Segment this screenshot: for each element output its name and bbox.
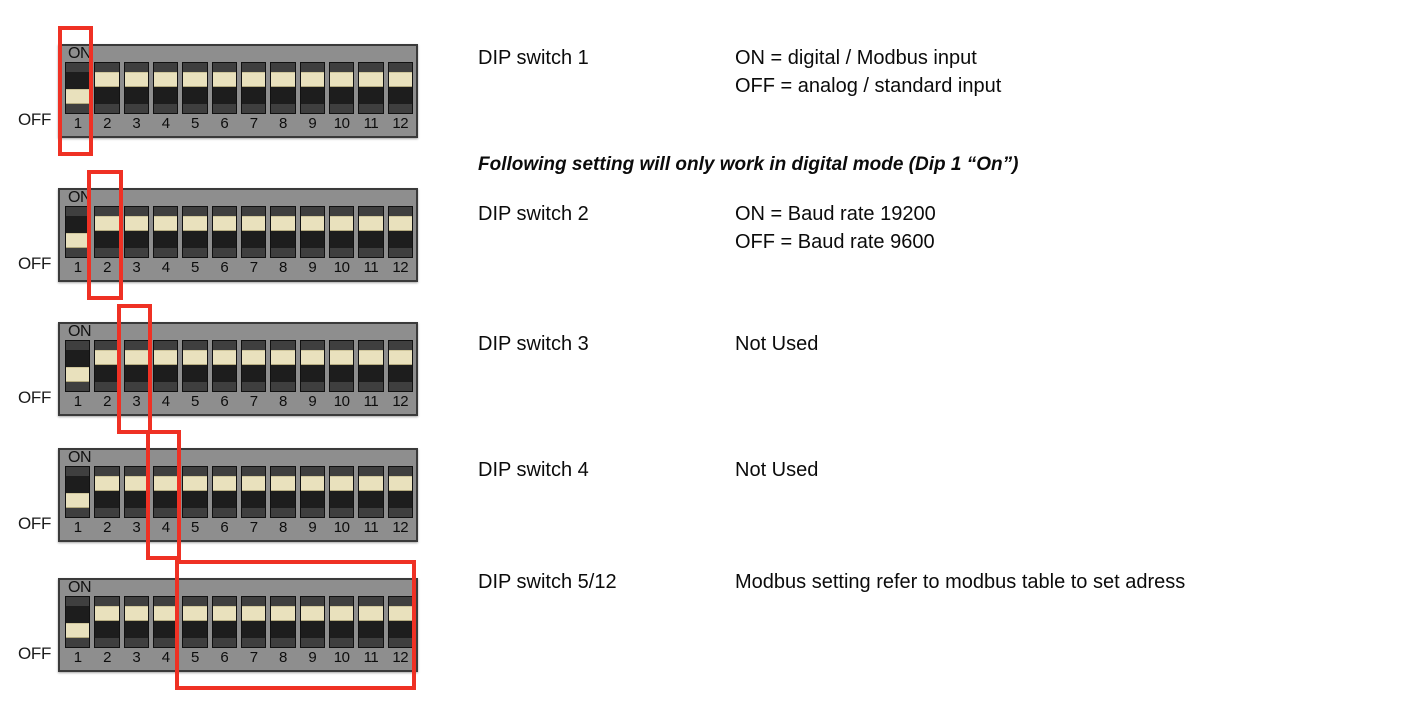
switch-cap-bottom (213, 508, 236, 517)
switch-cap-top (154, 207, 177, 216)
switch-slider[interactable] (271, 350, 294, 365)
row-value-dip-switch-2-2: OFF = Baud rate 9600 (735, 228, 935, 256)
switch-track (359, 606, 382, 638)
switch-number-6: 6 (212, 114, 237, 136)
dip-switch-6-on[interactable] (212, 62, 237, 114)
switch-slider[interactable] (242, 350, 265, 365)
switch-slider[interactable] (66, 493, 89, 508)
switch-number-6: 6 (212, 648, 237, 670)
dip-switch-9-on[interactable] (300, 596, 325, 648)
switch-cap-top (389, 341, 412, 350)
switch-track (125, 606, 148, 638)
switch-cap-top (389, 207, 412, 216)
switch-cap-top (154, 467, 177, 476)
switch-number-3: 3 (124, 114, 149, 136)
dip-switch-5-on[interactable] (182, 596, 207, 648)
switch-slider[interactable] (301, 350, 324, 365)
switch-track (242, 606, 265, 638)
switch-cap-top (154, 63, 177, 72)
dip-switch-10-on[interactable] (329, 340, 354, 392)
dip-switch-1-off[interactable] (65, 596, 90, 648)
switch-slider[interactable] (183, 216, 206, 231)
switch-cap-bottom (213, 248, 236, 257)
switch-slider[interactable] (183, 72, 206, 87)
switch-number-3: 3 (124, 392, 149, 414)
dip-switch-1-off[interactable] (65, 340, 90, 392)
switch-slider[interactable] (359, 476, 382, 491)
dip-switch-9-on[interactable] (300, 466, 325, 518)
switch-number-2: 2 (94, 648, 119, 670)
dip-switch-12-on[interactable] (388, 466, 413, 518)
dip-switch-3-on[interactable] (124, 340, 149, 392)
switch-cap-top (242, 63, 265, 72)
dip-switch-12-on[interactable] (388, 596, 413, 648)
dip-switch-8-on[interactable] (270, 62, 295, 114)
switch-cap-bottom (359, 382, 382, 391)
switch-track (301, 350, 324, 382)
switch-strip (65, 206, 413, 258)
dip-switch-8-on[interactable] (270, 596, 295, 648)
dip-switch-3-on[interactable] (124, 62, 149, 114)
switch-slider[interactable] (359, 606, 382, 621)
switch-number-3: 3 (124, 518, 149, 540)
switch-slider[interactable] (330, 350, 353, 365)
switch-cap-top (213, 207, 236, 216)
switch-cap-bottom (359, 104, 382, 113)
switch-slider[interactable] (154, 350, 177, 365)
switch-cap-bottom (242, 638, 265, 647)
switch-cap-top (213, 63, 236, 72)
switch-slider[interactable] (271, 72, 294, 87)
switch-strip (65, 340, 413, 392)
switch-slider[interactable] (389, 476, 412, 491)
switch-track (330, 476, 353, 508)
switch-number-12: 12 (388, 114, 413, 136)
switch-track (66, 476, 89, 508)
switch-number-row: 123456789101112 (65, 392, 413, 414)
on-label-2: ON (68, 190, 91, 206)
switch-track (66, 216, 89, 248)
switch-cap-top (330, 63, 353, 72)
dip-switch-5-on[interactable] (182, 466, 207, 518)
switch-slider[interactable] (242, 72, 265, 87)
dip-switch-1-off[interactable] (65, 466, 90, 518)
dip-switch-10-on[interactable] (329, 62, 354, 114)
switch-slider[interactable] (66, 89, 89, 104)
switch-slider[interactable] (66, 367, 89, 382)
switch-number-8: 8 (270, 258, 295, 280)
switch-cap-bottom (95, 382, 118, 391)
switch-number-1: 1 (65, 258, 90, 280)
switch-number-2: 2 (94, 114, 119, 136)
switch-cap-bottom (330, 104, 353, 113)
switch-strip (65, 596, 413, 648)
switch-track (271, 350, 294, 382)
dip-switch-11-on[interactable] (358, 340, 383, 392)
dip-switch-2-on[interactable] (94, 340, 119, 392)
dip-switch-10-on[interactable] (329, 466, 354, 518)
dip-switch-9-on[interactable] (300, 340, 325, 392)
switch-track (154, 476, 177, 508)
switch-track (359, 216, 382, 248)
switch-number-10: 10 (329, 258, 354, 280)
switch-track (213, 216, 236, 248)
switch-slider[interactable] (213, 72, 236, 87)
switch-cap-bottom (66, 382, 89, 391)
switch-track (301, 216, 324, 248)
switch-slider[interactable] (213, 216, 236, 231)
switch-slider[interactable] (95, 476, 118, 491)
switch-track (389, 72, 412, 104)
row-value-dip-switch-3-1: Not Used (735, 330, 818, 358)
switch-slider[interactable] (66, 623, 89, 638)
switch-slider[interactable] (213, 476, 236, 491)
switch-cap-top (330, 597, 353, 606)
dip-switch-6-on[interactable] (212, 206, 237, 258)
switch-cap-bottom (95, 104, 118, 113)
switch-track (301, 72, 324, 104)
switch-cap-bottom (154, 508, 177, 517)
row-label-dip-switch-5-12: DIP switch 5/12 (478, 568, 617, 596)
switch-cap-top (125, 63, 148, 72)
dip-switch-10-on[interactable] (329, 596, 354, 648)
dip-switch-7-on[interactable] (241, 206, 266, 258)
switch-cap-top (125, 467, 148, 476)
switch-cap-top (242, 207, 265, 216)
switch-slider[interactable] (183, 606, 206, 621)
dip-switch-12-on[interactable] (388, 340, 413, 392)
dip-switch-7-on[interactable] (241, 340, 266, 392)
switch-slider[interactable] (213, 606, 236, 621)
switch-slider[interactable] (154, 476, 177, 491)
dip-bank-dip-switch-3: ON123456789101112 (58, 322, 418, 416)
dip-switch-4-on[interactable] (153, 596, 178, 648)
dip-switch-5-on[interactable] (182, 206, 207, 258)
switch-cap-bottom (330, 382, 353, 391)
on-label-1: ON (68, 46, 91, 62)
switch-slider[interactable] (95, 606, 118, 621)
switch-cap-bottom (66, 104, 89, 113)
switch-number-6: 6 (212, 392, 237, 414)
switch-cap-bottom (330, 508, 353, 517)
dip-switch-4-on[interactable] (153, 466, 178, 518)
switch-number-8: 8 (270, 114, 295, 136)
switch-number-12: 12 (388, 648, 413, 670)
dip-switch-7-on[interactable] (241, 466, 266, 518)
switch-number-11: 11 (358, 518, 383, 540)
switch-cap-bottom (271, 382, 294, 391)
switch-slider[interactable] (389, 72, 412, 87)
switch-number-7: 7 (241, 392, 266, 414)
switch-number-11: 11 (358, 648, 383, 670)
switch-track (330, 350, 353, 382)
switch-cap-top (183, 597, 206, 606)
switch-cap-top (66, 207, 89, 216)
off-label-4: OFF (18, 514, 51, 534)
switch-number-10: 10 (329, 518, 354, 540)
switch-slider[interactable] (125, 216, 148, 231)
switch-track (330, 606, 353, 638)
switch-slider[interactable] (95, 72, 118, 87)
switch-slider[interactable] (125, 606, 148, 621)
switch-cap-bottom (213, 104, 236, 113)
switch-cap-bottom (125, 104, 148, 113)
switch-track (66, 606, 89, 638)
switch-slider[interactable] (125, 72, 148, 87)
row-label-dip-switch-4: DIP switch 4 (478, 456, 589, 484)
switch-track (213, 476, 236, 508)
switch-number-5: 5 (182, 258, 207, 280)
dip-switch-10-on[interactable] (329, 206, 354, 258)
dip-switch-11-on[interactable] (358, 596, 383, 648)
switch-slider[interactable] (330, 606, 353, 621)
switch-number-3: 3 (124, 648, 149, 670)
switch-cap-top (154, 341, 177, 350)
switch-slider[interactable] (95, 350, 118, 365)
switch-cap-top (213, 341, 236, 350)
switch-track (125, 350, 148, 382)
switch-slider[interactable] (95, 216, 118, 231)
dip-switch-2-on[interactable] (94, 596, 119, 648)
switch-number-9: 9 (300, 392, 325, 414)
switch-slider[interactable] (359, 216, 382, 231)
switch-number-4: 4 (153, 392, 178, 414)
switch-number-12: 12 (388, 518, 413, 540)
switch-slider[interactable] (359, 72, 382, 87)
switch-number-7: 7 (241, 648, 266, 670)
switch-number-4: 4 (153, 258, 178, 280)
switch-track (242, 72, 265, 104)
switch-number-4: 4 (153, 648, 178, 670)
dip-switch-12-on[interactable] (388, 206, 413, 258)
row-value-dip-switch-5-12-1: Modbus setting refer to modbus table to … (735, 568, 1185, 596)
dip-switch-5-on[interactable] (182, 340, 207, 392)
dip-switch-6-on[interactable] (212, 596, 237, 648)
switch-track (154, 72, 177, 104)
dip-switch-8-on[interactable] (270, 206, 295, 258)
switch-track (66, 350, 89, 382)
switch-cap-bottom (95, 508, 118, 517)
switch-number-7: 7 (241, 258, 266, 280)
switch-slider[interactable] (301, 606, 324, 621)
switch-track (183, 606, 206, 638)
switch-cap-bottom (125, 638, 148, 647)
dip-switch-8-on[interactable] (270, 340, 295, 392)
dip-switch-11-on[interactable] (358, 466, 383, 518)
switch-slider[interactable] (389, 216, 412, 231)
switch-cap-top (95, 597, 118, 606)
switch-slider[interactable] (271, 216, 294, 231)
switch-cap-top (242, 341, 265, 350)
switch-cap-bottom (125, 248, 148, 257)
switch-cap-bottom (271, 508, 294, 517)
switch-slider[interactable] (183, 350, 206, 365)
dip-switch-3-on[interactable] (124, 206, 149, 258)
switch-cap-bottom (271, 104, 294, 113)
switch-number-4: 4 (153, 114, 178, 136)
switch-cap-bottom (389, 104, 412, 113)
switch-track (66, 72, 89, 104)
switch-cap-bottom (183, 638, 206, 647)
switch-cap-bottom (242, 248, 265, 257)
switch-cap-top (154, 597, 177, 606)
switch-cap-bottom (154, 248, 177, 257)
switch-cap-top (271, 207, 294, 216)
switch-slider[interactable] (125, 350, 148, 365)
dip-switch-9-on[interactable] (300, 206, 325, 258)
dip-switch-4-on[interactable] (153, 340, 178, 392)
switch-cap-top (183, 341, 206, 350)
switch-number-5: 5 (182, 392, 207, 414)
dip-switch-1-off[interactable] (65, 62, 90, 114)
switch-number-4: 4 (153, 518, 178, 540)
switch-number-7: 7 (241, 114, 266, 136)
switch-cap-top (95, 467, 118, 476)
dip-switch-3-on[interactable] (124, 466, 149, 518)
dip-switch-11-on[interactable] (358, 62, 383, 114)
switch-slider[interactable] (183, 476, 206, 491)
switch-number-9: 9 (300, 114, 325, 136)
switch-cap-bottom (301, 508, 324, 517)
switch-cap-bottom (389, 382, 412, 391)
switch-slider[interactable] (301, 72, 324, 87)
on-label-4: ON (68, 450, 91, 466)
dip-switch-12-on[interactable] (388, 62, 413, 114)
switch-cap-bottom (213, 638, 236, 647)
switch-slider[interactable] (301, 476, 324, 491)
switch-cap-bottom (183, 248, 206, 257)
switch-slider[interactable] (330, 72, 353, 87)
switch-number-9: 9 (300, 258, 325, 280)
switch-track (213, 72, 236, 104)
switch-number-3: 3 (124, 258, 149, 280)
switch-number-10: 10 (329, 114, 354, 136)
dip-switch-4-on[interactable] (153, 206, 178, 258)
switch-cap-top (183, 207, 206, 216)
switch-cap-top (95, 207, 118, 216)
switch-cap-top (389, 597, 412, 606)
switch-number-5: 5 (182, 648, 207, 670)
switch-track (183, 72, 206, 104)
switch-cap-bottom (154, 104, 177, 113)
switch-cap-top (301, 597, 324, 606)
switch-cap-top (301, 467, 324, 476)
switch-slider[interactable] (242, 216, 265, 231)
switch-cap-bottom (389, 248, 412, 257)
switch-cap-bottom (359, 248, 382, 257)
switch-cap-bottom (66, 638, 89, 647)
switch-track (359, 476, 382, 508)
dip-switch-7-on[interactable] (241, 596, 266, 648)
switch-slider[interactable] (389, 606, 412, 621)
switch-cap-top (301, 63, 324, 72)
switch-slider[interactable] (330, 476, 353, 491)
row-label-dip-switch-3: DIP switch 3 (478, 330, 589, 358)
dip-switch-3-on[interactable] (124, 596, 149, 648)
switch-track (271, 606, 294, 638)
switch-cap-top (66, 597, 89, 606)
switch-cap-top (242, 597, 265, 606)
switch-slider[interactable] (125, 476, 148, 491)
dip-bank-dip-switch-2: ON123456789101112 (58, 188, 418, 282)
switch-track (154, 350, 177, 382)
switch-slider[interactable] (359, 350, 382, 365)
switch-track (389, 216, 412, 248)
digital-mode-heading: Following setting will only work in digi… (478, 152, 1018, 178)
switch-cap-top (183, 467, 206, 476)
switch-slider[interactable] (154, 72, 177, 87)
switch-cap-bottom (66, 508, 89, 517)
dip-switch-2-on[interactable] (94, 62, 119, 114)
switch-track (154, 216, 177, 248)
switch-number-row: 123456789101112 (65, 648, 413, 670)
switch-track (301, 476, 324, 508)
off-label-3: OFF (18, 388, 51, 408)
switch-slider[interactable] (154, 216, 177, 231)
dip-switch-2-on[interactable] (94, 466, 119, 518)
switch-slider[interactable] (301, 216, 324, 231)
dip-switch-1-off[interactable] (65, 206, 90, 258)
switch-cap-top (242, 467, 265, 476)
switch-cap-top (213, 467, 236, 476)
switch-track (389, 606, 412, 638)
switch-cap-bottom (154, 638, 177, 647)
switch-slider[interactable] (213, 350, 236, 365)
dip-switch-5-on[interactable] (182, 62, 207, 114)
switch-number-row: 123456789101112 (65, 258, 413, 280)
switch-slider[interactable] (330, 216, 353, 231)
switch-number-11: 11 (358, 392, 383, 414)
switch-number-1: 1 (65, 392, 90, 414)
switch-cap-top (359, 63, 382, 72)
switch-slider[interactable] (154, 606, 177, 621)
dip-switch-7-on[interactable] (241, 62, 266, 114)
dip-switch-6-on[interactable] (212, 340, 237, 392)
switch-cap-top (66, 341, 89, 350)
switch-cap-top (271, 597, 294, 606)
switch-cap-top (271, 467, 294, 476)
dip-switch-9-on[interactable] (300, 62, 325, 114)
dip-switch-11-on[interactable] (358, 206, 383, 258)
row-label-dip-switch-2: DIP switch 2 (478, 200, 589, 228)
switch-cap-bottom (183, 104, 206, 113)
switch-cap-top (359, 467, 382, 476)
switch-track (183, 476, 206, 508)
dip-switch-2-on[interactable] (94, 206, 119, 258)
row-value-dip-switch-1-1: ON = digital / Modbus input (735, 44, 977, 72)
switch-slider[interactable] (242, 606, 265, 621)
switch-track (125, 476, 148, 508)
dip-switch-8-on[interactable] (270, 466, 295, 518)
switch-cap-bottom (95, 248, 118, 257)
switch-slider[interactable] (242, 476, 265, 491)
switch-slider[interactable] (66, 233, 89, 248)
switch-cap-bottom (301, 104, 324, 113)
switch-track (95, 606, 118, 638)
switch-cap-top (183, 63, 206, 72)
switch-slider[interactable] (271, 476, 294, 491)
dip-switch-6-on[interactable] (212, 466, 237, 518)
switch-slider[interactable] (271, 606, 294, 621)
dip-switch-4-on[interactable] (153, 62, 178, 114)
switch-number-11: 11 (358, 114, 383, 136)
switch-track (242, 350, 265, 382)
off-label-2: OFF (18, 254, 51, 274)
switch-cap-bottom (183, 382, 206, 391)
off-label-1: OFF (18, 110, 51, 130)
switch-slider[interactable] (389, 350, 412, 365)
switch-number-11: 11 (358, 258, 383, 280)
